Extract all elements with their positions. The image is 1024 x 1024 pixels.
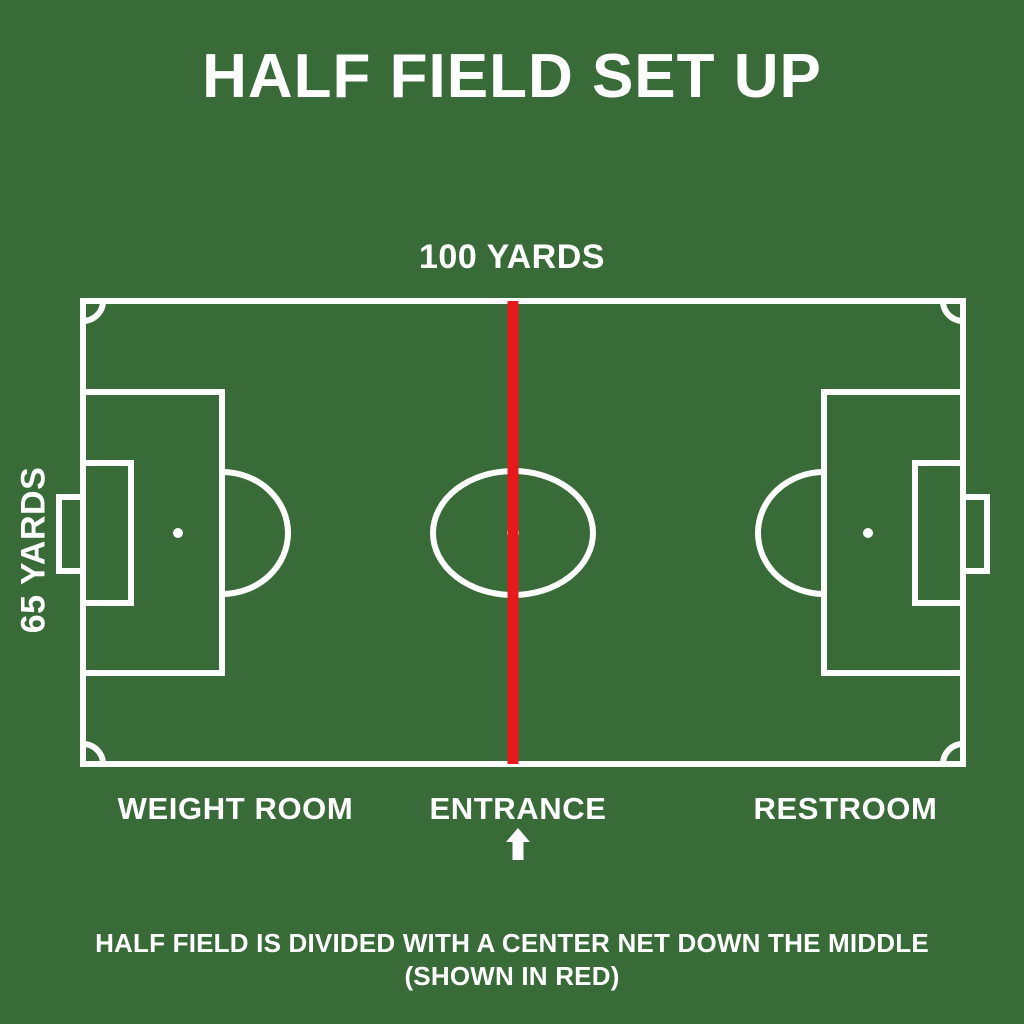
zone-label-weight-room: WEIGHT ROOM bbox=[98, 793, 373, 824]
corner-arc-top-left bbox=[83, 301, 103, 321]
half-field-setup-poster: HALF FIELD SET UP 100 YARDS 65 YARDS bbox=[0, 0, 1024, 1024]
zone-label-entrance: ENTRANCE bbox=[388, 793, 648, 824]
corner-arc-bottom-right bbox=[943, 744, 963, 764]
center-spot bbox=[507, 527, 519, 539]
entrance-arrow-container bbox=[388, 828, 648, 864]
soccer-field-diagram bbox=[0, 0, 1024, 1024]
corner-arc-top-right bbox=[943, 301, 963, 321]
field-boundary bbox=[83, 301, 963, 764]
caption-line-2: (SHOWN IN RED) bbox=[0, 960, 1024, 993]
left-penalty-arc bbox=[222, 472, 288, 594]
zone-label-restroom: RESTROOM bbox=[718, 793, 973, 824]
right-penalty-box bbox=[824, 392, 963, 673]
field-length-label: 100 YARDS bbox=[0, 240, 1024, 274]
arrow-up-icon bbox=[505, 828, 531, 860]
left-penalty-spot bbox=[173, 528, 183, 538]
caption: HALF FIELD IS DIVIDED WITH A CENTER NET … bbox=[0, 927, 1024, 994]
right-goal-net bbox=[963, 497, 987, 571]
field-width-label-text: 65 YARDS bbox=[16, 467, 50, 634]
caption-line-1: HALF FIELD IS DIVIDED WITH A CENTER NET … bbox=[95, 928, 929, 958]
left-goal-box bbox=[83, 463, 131, 603]
right-penalty-spot bbox=[863, 528, 873, 538]
left-goal-net bbox=[59, 497, 83, 571]
field-width-label: 65 YARDS bbox=[8, 440, 58, 660]
center-circle bbox=[433, 471, 593, 595]
right-goal-box bbox=[915, 463, 963, 603]
right-penalty-arc bbox=[758, 472, 824, 594]
page-title: HALF FIELD SET UP bbox=[0, 46, 1024, 108]
corner-arc-bottom-left bbox=[83, 744, 103, 764]
left-penalty-box bbox=[83, 392, 222, 673]
